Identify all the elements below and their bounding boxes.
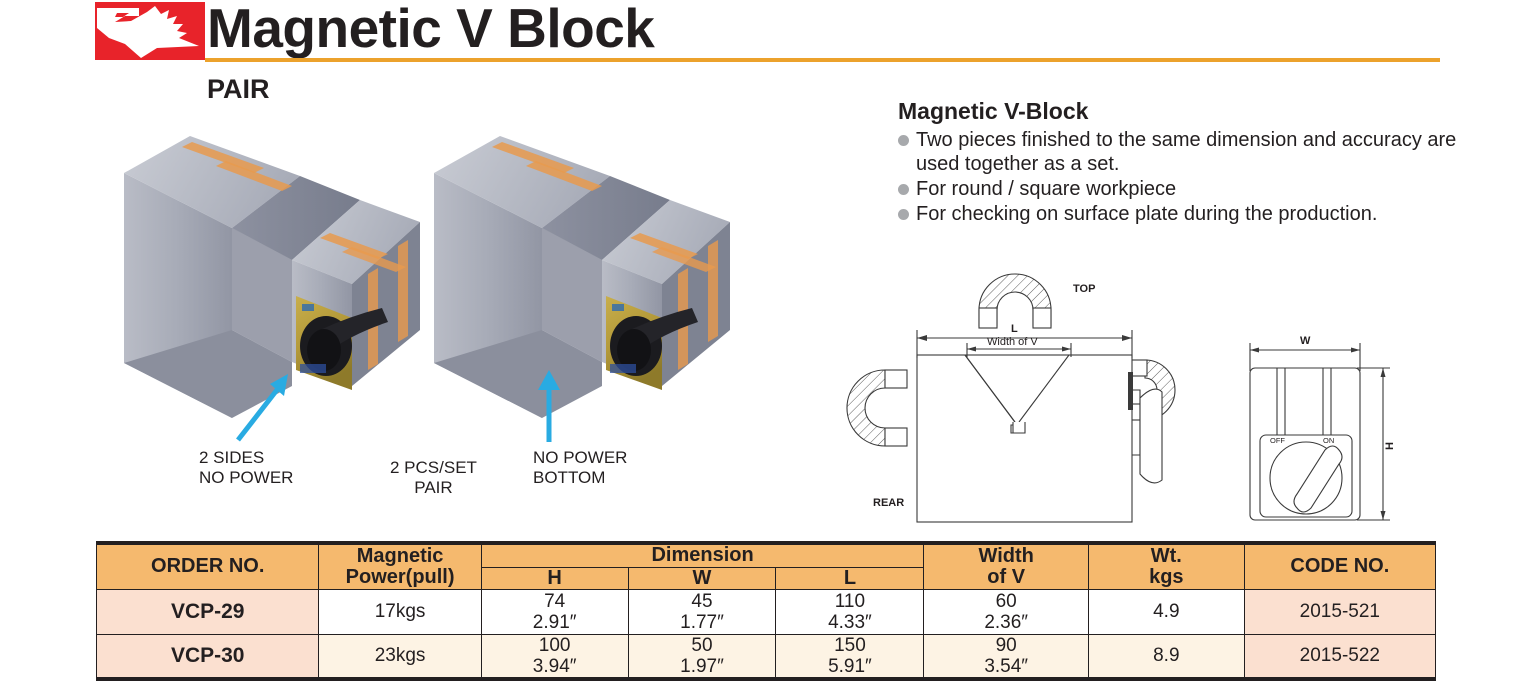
svg-text:OFF: OFF bbox=[1270, 436, 1285, 445]
caption-pcs-per-set: 2 PCS/SET PAIR bbox=[390, 458, 477, 498]
value-mm: 110 bbox=[776, 591, 923, 612]
spec-bullet-text: Two pieces finished to the same dimensio… bbox=[916, 128, 1478, 176]
value-inch: 5.91″ bbox=[776, 656, 923, 677]
dimension-line-width bbox=[1250, 343, 1360, 371]
value-inch: 3.94″ bbox=[482, 656, 628, 677]
side-view-drawing bbox=[1250, 368, 1360, 520]
svg-text:ON: ON bbox=[1323, 436, 1334, 445]
col-header-l: L bbox=[776, 567, 924, 589]
cell-dimension-w: 45 1.77″ bbox=[628, 589, 776, 634]
bullet-dot-icon bbox=[898, 184, 909, 195]
cell-order-no: VCP-29 bbox=[97, 589, 319, 634]
svg-text:W: W bbox=[1300, 335, 1311, 347]
spec-bullet-text: For round / square workpiece bbox=[916, 177, 1176, 201]
cell-weight: 8.9 bbox=[1088, 634, 1244, 679]
spec-heading: Magnetic V-Block bbox=[898, 98, 1478, 125]
value-mm: 45 bbox=[629, 591, 776, 612]
cell-magnetic-power: 23kgs bbox=[319, 634, 481, 679]
caption-two-sides-no-power: 2 SIDES NO POWER bbox=[199, 448, 293, 488]
col-header-dimension: Dimension bbox=[481, 543, 924, 567]
value-inch: 2.91″ bbox=[482, 612, 628, 633]
page-header: Magnetic V Block PAIR bbox=[0, 0, 1525, 64]
value-inch: 3.54″ bbox=[924, 656, 1088, 677]
col-header-w: W bbox=[628, 567, 776, 589]
value-mm: 74 bbox=[482, 591, 628, 612]
col-header-magnetic-power: Magnetic Power(pull) bbox=[319, 543, 481, 589]
value-mm: 60 bbox=[924, 591, 1088, 612]
svg-text:L: L bbox=[1011, 323, 1018, 335]
value-mm: 90 bbox=[924, 635, 1088, 656]
col-header-weight: Wt. kgs bbox=[1088, 543, 1244, 589]
cell-dimension-h: 74 2.91″ bbox=[481, 589, 628, 634]
table-row: VCP-30 23kgs 100 3.94″ 50 1.97″ 150 5.91… bbox=[97, 634, 1436, 679]
col-header-h: H bbox=[481, 567, 628, 589]
width-of-v-line-1: Width bbox=[979, 545, 1034, 567]
cell-code-no: 2015-522 bbox=[1244, 634, 1435, 679]
cell-dimension-w: 50 1.97″ bbox=[628, 634, 776, 679]
cell-width-of-v: 90 3.54″ bbox=[924, 634, 1089, 679]
cell-magnetic-power: 17kgs bbox=[319, 589, 481, 634]
spec-description-block: Magnetic V-Block Two pieces finished to … bbox=[898, 98, 1478, 227]
weight-line-2: kgs bbox=[1149, 566, 1183, 588]
callout-arrow-two-sides bbox=[230, 368, 300, 443]
value-inch: 1.77″ bbox=[629, 612, 776, 633]
cell-dimension-h: 100 3.94″ bbox=[481, 634, 628, 679]
cell-weight: 4.9 bbox=[1088, 589, 1244, 634]
caption-line-2: PAIR bbox=[414, 478, 452, 497]
page-subtitle: PAIR bbox=[207, 74, 270, 105]
cell-dimension-l: 110 4.33″ bbox=[776, 589, 924, 634]
spec-bullet-text: For checking on surface plate during the… bbox=[916, 202, 1377, 226]
value-mm: 100 bbox=[482, 635, 628, 656]
value-inch: 1.97″ bbox=[629, 656, 776, 677]
col-header-width-of-v: Width of V bbox=[924, 543, 1089, 589]
bullet-dot-icon bbox=[898, 135, 909, 146]
callout-arrow-no-power-bottom bbox=[532, 366, 566, 444]
cell-width-of-v: 60 2.36″ bbox=[924, 589, 1089, 634]
cell-code-no: 2015-521 bbox=[1244, 589, 1435, 634]
front-view-drawing bbox=[917, 355, 1162, 522]
caption-line-2: NO POWER bbox=[199, 468, 293, 487]
svg-text:H: H bbox=[1384, 442, 1396, 450]
cell-dimension-l: 150 5.91″ bbox=[776, 634, 924, 679]
title-underline-rule bbox=[205, 58, 1440, 62]
svg-text:Width of V: Width of V bbox=[987, 336, 1038, 348]
product-photo-area bbox=[120, 118, 820, 448]
page-title: Magnetic V Block bbox=[207, 0, 654, 60]
caption-line-1: 2 SIDES bbox=[199, 448, 264, 467]
caption-no-power-bottom: NO POWER BOTTOM bbox=[533, 448, 627, 488]
value-mm: 50 bbox=[629, 635, 776, 656]
svg-text:TOP: TOP bbox=[1073, 283, 1095, 295]
spec-bullet-item: Two pieces finished to the same dimensio… bbox=[898, 128, 1478, 176]
caption-line-2: BOTTOM bbox=[533, 468, 605, 487]
technical-drawing-area: TOP L Width of V REAR W H OFF ON bbox=[845, 250, 1475, 535]
magnet-symbol-top bbox=[979, 274, 1051, 328]
caption-line-1: NO POWER bbox=[533, 448, 627, 467]
caption-line-1: 2 PCS/SET bbox=[390, 458, 477, 477]
col-header-order-no: ORDER NO. bbox=[97, 543, 319, 589]
spec-bullet-item: For checking on surface plate during the… bbox=[898, 202, 1478, 226]
magnetic-power-line-2: Power(pull) bbox=[346, 566, 455, 588]
specification-table: ORDER NO. Magnetic Power(pull) Dimension… bbox=[96, 541, 1436, 681]
spec-bullet-item: For round / square workpiece bbox=[898, 177, 1478, 201]
value-mm: 150 bbox=[776, 635, 923, 656]
value-inch: 4.33″ bbox=[776, 612, 923, 633]
cell-order-no: VCP-30 bbox=[97, 634, 319, 679]
weight-line-1: Wt. bbox=[1151, 545, 1182, 567]
width-of-v-line-2: of V bbox=[987, 566, 1025, 588]
table-row: VCP-29 17kgs 74 2.91″ 45 1.77″ 110 4.33″… bbox=[97, 589, 1436, 634]
eagle-head-logo-icon bbox=[95, 2, 205, 60]
col-header-code-no: CODE NO. bbox=[1244, 543, 1435, 589]
value-inch: 2.36″ bbox=[924, 612, 1088, 633]
magnetic-power-line-1: Magnetic bbox=[357, 545, 444, 567]
magnet-symbol-rear bbox=[847, 370, 907, 446]
product-image-vblock-right bbox=[430, 118, 760, 418]
bullet-dot-icon bbox=[898, 209, 909, 220]
svg-text:REAR: REAR bbox=[873, 497, 904, 509]
